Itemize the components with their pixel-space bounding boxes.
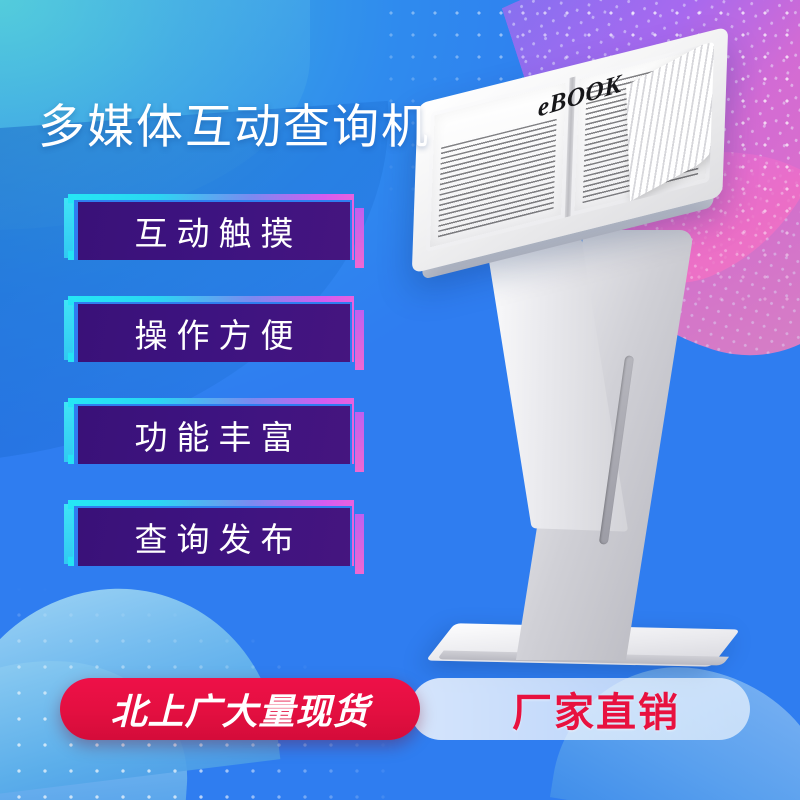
badge-panel: 查询发布: [78, 508, 350, 566]
feature-badge-label: 查询发布: [126, 513, 303, 561]
stock-availability-pill[interactable]: 北上广大量现货: [60, 678, 420, 740]
stock-availability-label: 北上广大量现货: [110, 683, 369, 735]
badge-left-bracket-icon: [64, 402, 73, 462]
badge-panel: 互动触摸: [78, 202, 350, 260]
bottom-banner: 北上广大量现货 厂家直销: [60, 678, 750, 740]
badge-panel: 功能丰富: [78, 406, 350, 464]
badge-right-bracket-icon: [355, 208, 364, 268]
badge-left-bracket-icon: [64, 504, 73, 564]
badge-right-bracket-icon: [355, 310, 364, 370]
feature-badge-rich-functions[interactable]: 功能丰富: [78, 406, 350, 464]
feature-badge-query-publish[interactable]: 查询发布: [78, 508, 350, 566]
feature-badge-list: 互动触摸 操作方便 功能丰富 查询: [78, 202, 350, 610]
factory-direct-label: 厂家直销: [512, 678, 680, 740]
feature-badge-interactive-touch[interactable]: 互动触摸: [78, 202, 350, 260]
product-kiosk-image: eBOOK: [400, 55, 800, 695]
feature-badge-label: 操作方便: [126, 309, 303, 357]
promo-poster: eBOOK 多媒体互动查询机 互动触摸 操作方便: [0, 0, 800, 800]
page-title: 多媒体互动查询机: [38, 102, 430, 151]
badge-right-bracket-icon: [355, 412, 364, 472]
screen-content: eBOOK: [426, 42, 714, 252]
badge-right-bracket-icon: [355, 514, 364, 574]
feature-badge-easy-operation[interactable]: 操作方便: [78, 304, 350, 362]
badge-panel: 操作方便: [78, 304, 350, 362]
feature-badge-label: 互动触摸: [126, 207, 303, 255]
badge-left-bracket-icon: [64, 198, 73, 258]
feature-badge-label: 功能丰富: [126, 411, 303, 459]
badge-left-bracket-icon: [64, 300, 73, 360]
ebook-text-lines-left: [438, 119, 557, 240]
